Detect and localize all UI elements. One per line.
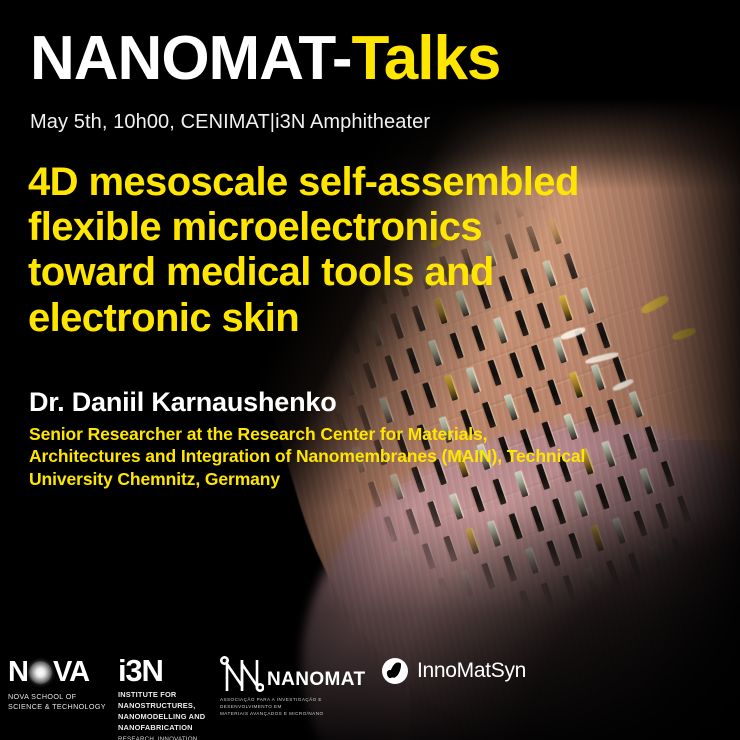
nanomat-tagline-line: MATERIAIS AVANÇADOS E MICRO/NANO (220, 711, 368, 718)
logo-nanomat[interactable]: NANOMAT ASSOCIAÇÃO PARA A INVESTIGAÇÃO E… (218, 652, 368, 718)
talk-title-line: toward medical tools and (28, 250, 740, 295)
i3n-name-line: NANOFABRICATION (118, 723, 210, 734)
i3n-tagline: RESEARCH, INNOVATION AND ENGINEERING APP… (118, 736, 210, 740)
speaker-name: Dr. Daniil Karnaushenko (29, 387, 336, 418)
series-title-accent: Talks (351, 24, 500, 93)
i3n-tagline-line: RESEARCH, INNOVATION AND (118, 736, 210, 740)
talk-title-line: electronic skin (28, 296, 740, 341)
nova-tagline-line: NOVA SCHOOL OF (8, 692, 108, 702)
nova-wordmark: N VA (8, 658, 108, 687)
i3n-name-line: INSTITUTE FOR (118, 690, 210, 701)
nova-tagline-line: SCIENCE & TECHNOLOGY (8, 702, 108, 712)
nova-letter-n: N (8, 658, 28, 687)
poster: NANOMAT-Talks May 5th, 10h00, CENIMAT|i3… (0, 0, 740, 740)
i3n-name-line: NANOMODELLING AND (118, 712, 210, 723)
talk-title: 4D mesoscale self-assembled flexible mic… (28, 160, 740, 341)
talk-title-line: 4D mesoscale self-assembled (28, 160, 740, 205)
event-datetime-venue: May 5th, 10h00, CENIMAT|i3N Amphitheater (30, 111, 430, 134)
innomatsyn-wordmark: InnoMatSyn (417, 659, 526, 683)
logo-nova-school[interactable]: N VA NOVA SCHOOL OF SCIENCE & TECHNOLOGY (8, 658, 108, 712)
speaker-affiliation-line: Architectures and Integration of Nanomem… (29, 445, 689, 467)
nanomat-n-node-icon (218, 652, 264, 696)
nova-globe-icon (29, 661, 52, 684)
poster-content: NANOMAT-Talks May 5th, 10h00, CENIMAT|i3… (0, 0, 740, 740)
speaker-affiliation-line: University Chemnitz, Germany (29, 468, 689, 490)
logo-innomatsyn[interactable]: InnoMatSyn (382, 658, 526, 684)
speaker-affiliation: Senior Researcher at the Research Center… (29, 423, 689, 490)
i3n-name-line: NANOSTRUCTURES, (118, 701, 210, 712)
talk-title-line: flexible microelectronics (28, 205, 740, 250)
nanomat-tagline-line: ASSOCIAÇÃO PARA A INVESTIGAÇÃO E DESENVO… (220, 697, 368, 711)
series-title: NANOMAT-Talks (30, 28, 500, 90)
sponsor-logo-bar: N VA NOVA SCHOOL OF SCIENCE & TECHNOLOGY… (0, 630, 740, 740)
i3n-institute-name: INSTITUTE FOR NANOSTRUCTURES, NANOMODELL… (118, 690, 210, 733)
nanomat-wordmark: NANOMAT (267, 669, 366, 691)
logo-i3n[interactable]: i3N INSTITUTE FOR NANOSTRUCTURES, NANOMO… (118, 656, 210, 740)
series-title-primary: NANOMAT- (30, 24, 351, 93)
i3n-wordmark: i3N (118, 656, 210, 685)
speaker-affiliation-line: Senior Researcher at the Research Center… (29, 423, 689, 445)
nova-letters-va: VA (53, 658, 89, 687)
nanomat-row: NANOMAT (218, 652, 368, 696)
innomatsyn-circle-icon (382, 658, 408, 684)
nova-tagline: NOVA SCHOOL OF SCIENCE & TECHNOLOGY (8, 692, 108, 712)
nanomat-tagline: ASSOCIAÇÃO PARA A INVESTIGAÇÃO E DESENVO… (220, 697, 368, 718)
